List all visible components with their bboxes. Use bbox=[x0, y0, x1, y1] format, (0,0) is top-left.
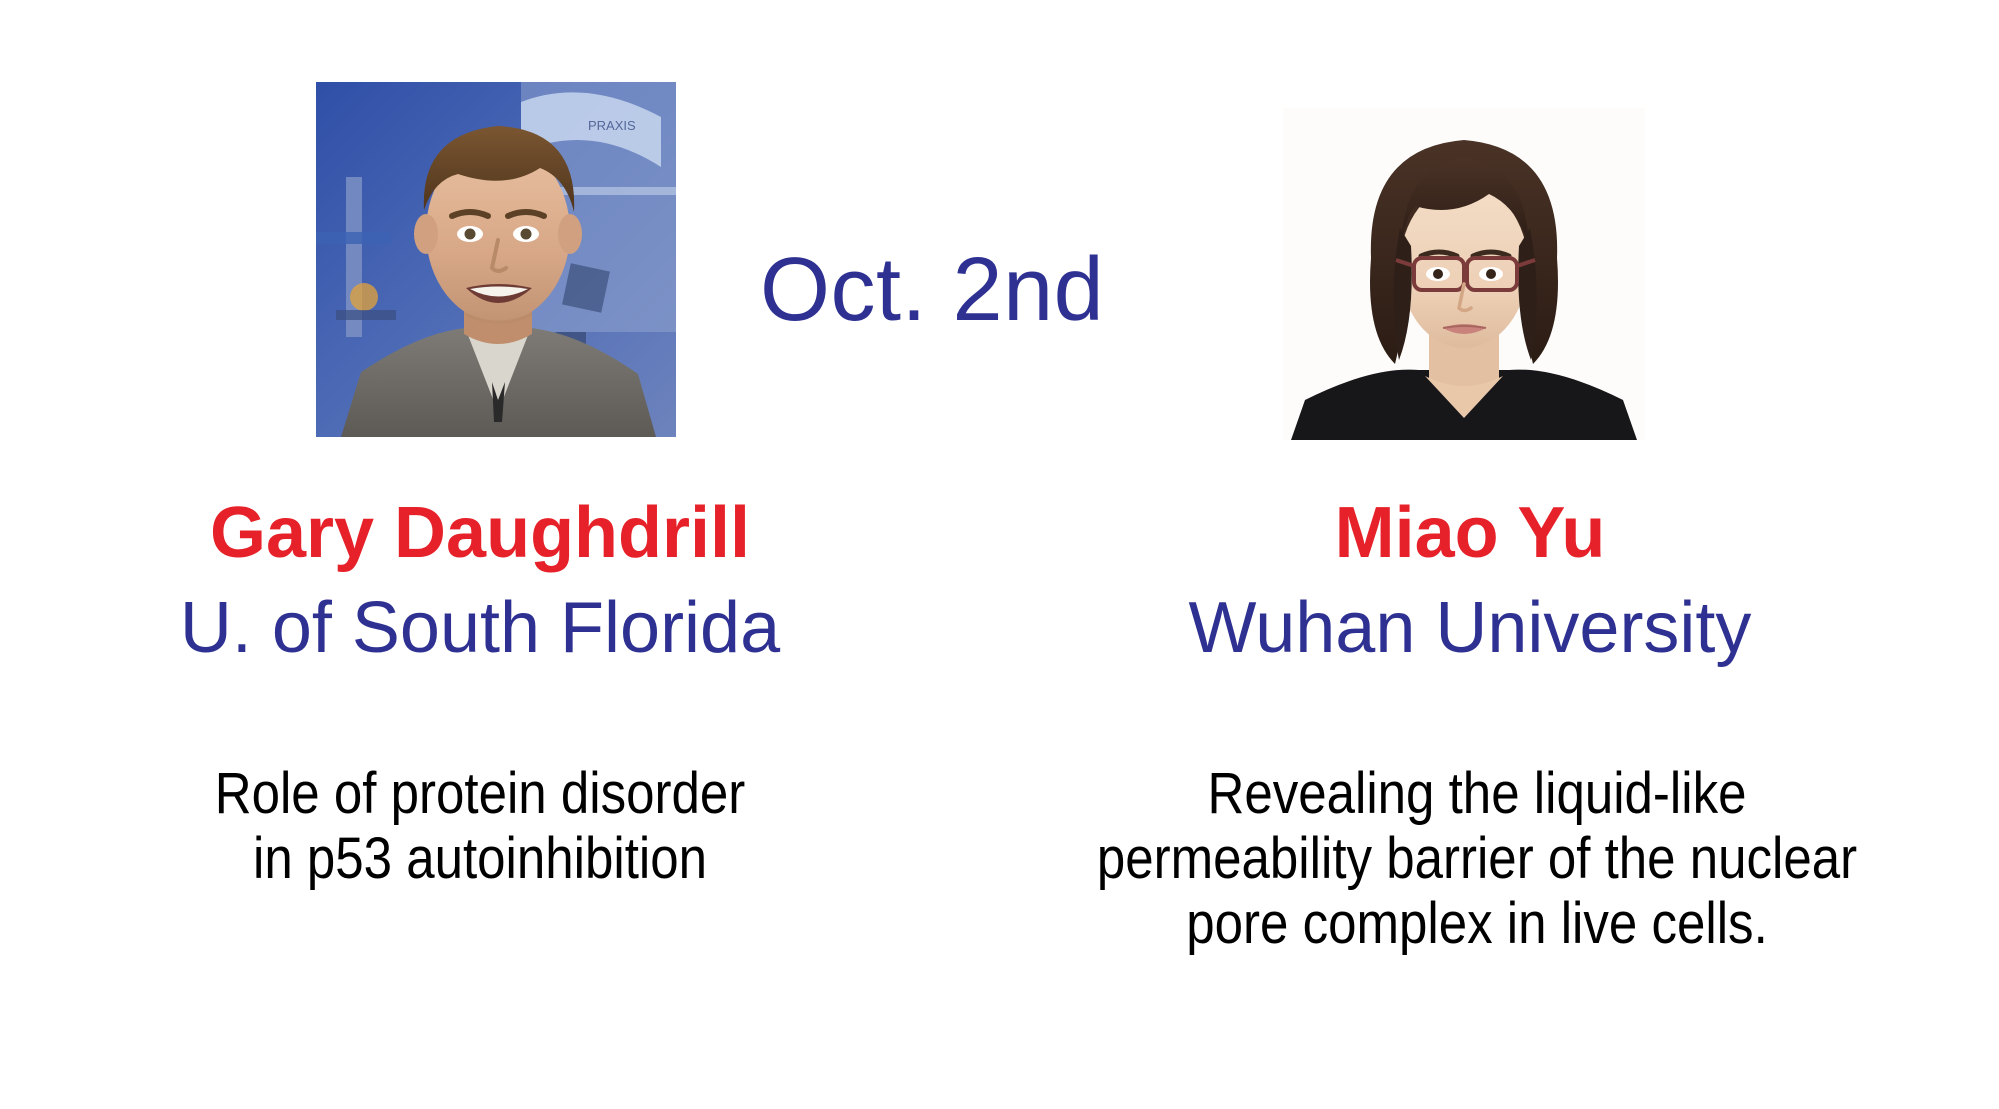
speaker-photo-gary-daughdrill: PRAXIS bbox=[316, 82, 676, 437]
speaker-name-gary-daughdrill: Gary Daughdrill bbox=[60, 497, 900, 569]
portrait-illustration-right bbox=[1283, 108, 1645, 440]
talk-title-gary-daughdrill: Role of protein disorder in p53 autoinhi… bbox=[110, 762, 849, 892]
portrait-illustration-left: PRAXIS bbox=[316, 82, 676, 437]
seminar-announcement-slide: Oct. 2nd bbox=[0, 0, 1999, 1109]
speaker-affiliation-miao-yu: Wuhan University bbox=[1000, 592, 1940, 664]
speaker-photo-miao-yu bbox=[1283, 108, 1645, 440]
speaker-affiliation-gary-daughdrill: U. of South Florida bbox=[60, 592, 900, 664]
talk-title-line: in p53 autoinhibition bbox=[110, 827, 849, 892]
talk-title-line: pore complex in live cells. bbox=[1033, 892, 1922, 957]
talk-title-line: Role of protein disorder bbox=[110, 762, 849, 827]
talk-title-miao-yu: Revealing the liquid-like permeability b… bbox=[1033, 762, 1922, 957]
seminar-date: Oct. 2nd bbox=[760, 245, 1180, 335]
talk-title-line: permeability barrier of the nuclear bbox=[1033, 827, 1922, 892]
speaker-name-miao-yu: Miao Yu bbox=[1000, 497, 1940, 569]
talk-title-line: Revealing the liquid-like bbox=[1033, 762, 1922, 827]
svg-text:PRAXIS: PRAXIS bbox=[588, 118, 636, 133]
